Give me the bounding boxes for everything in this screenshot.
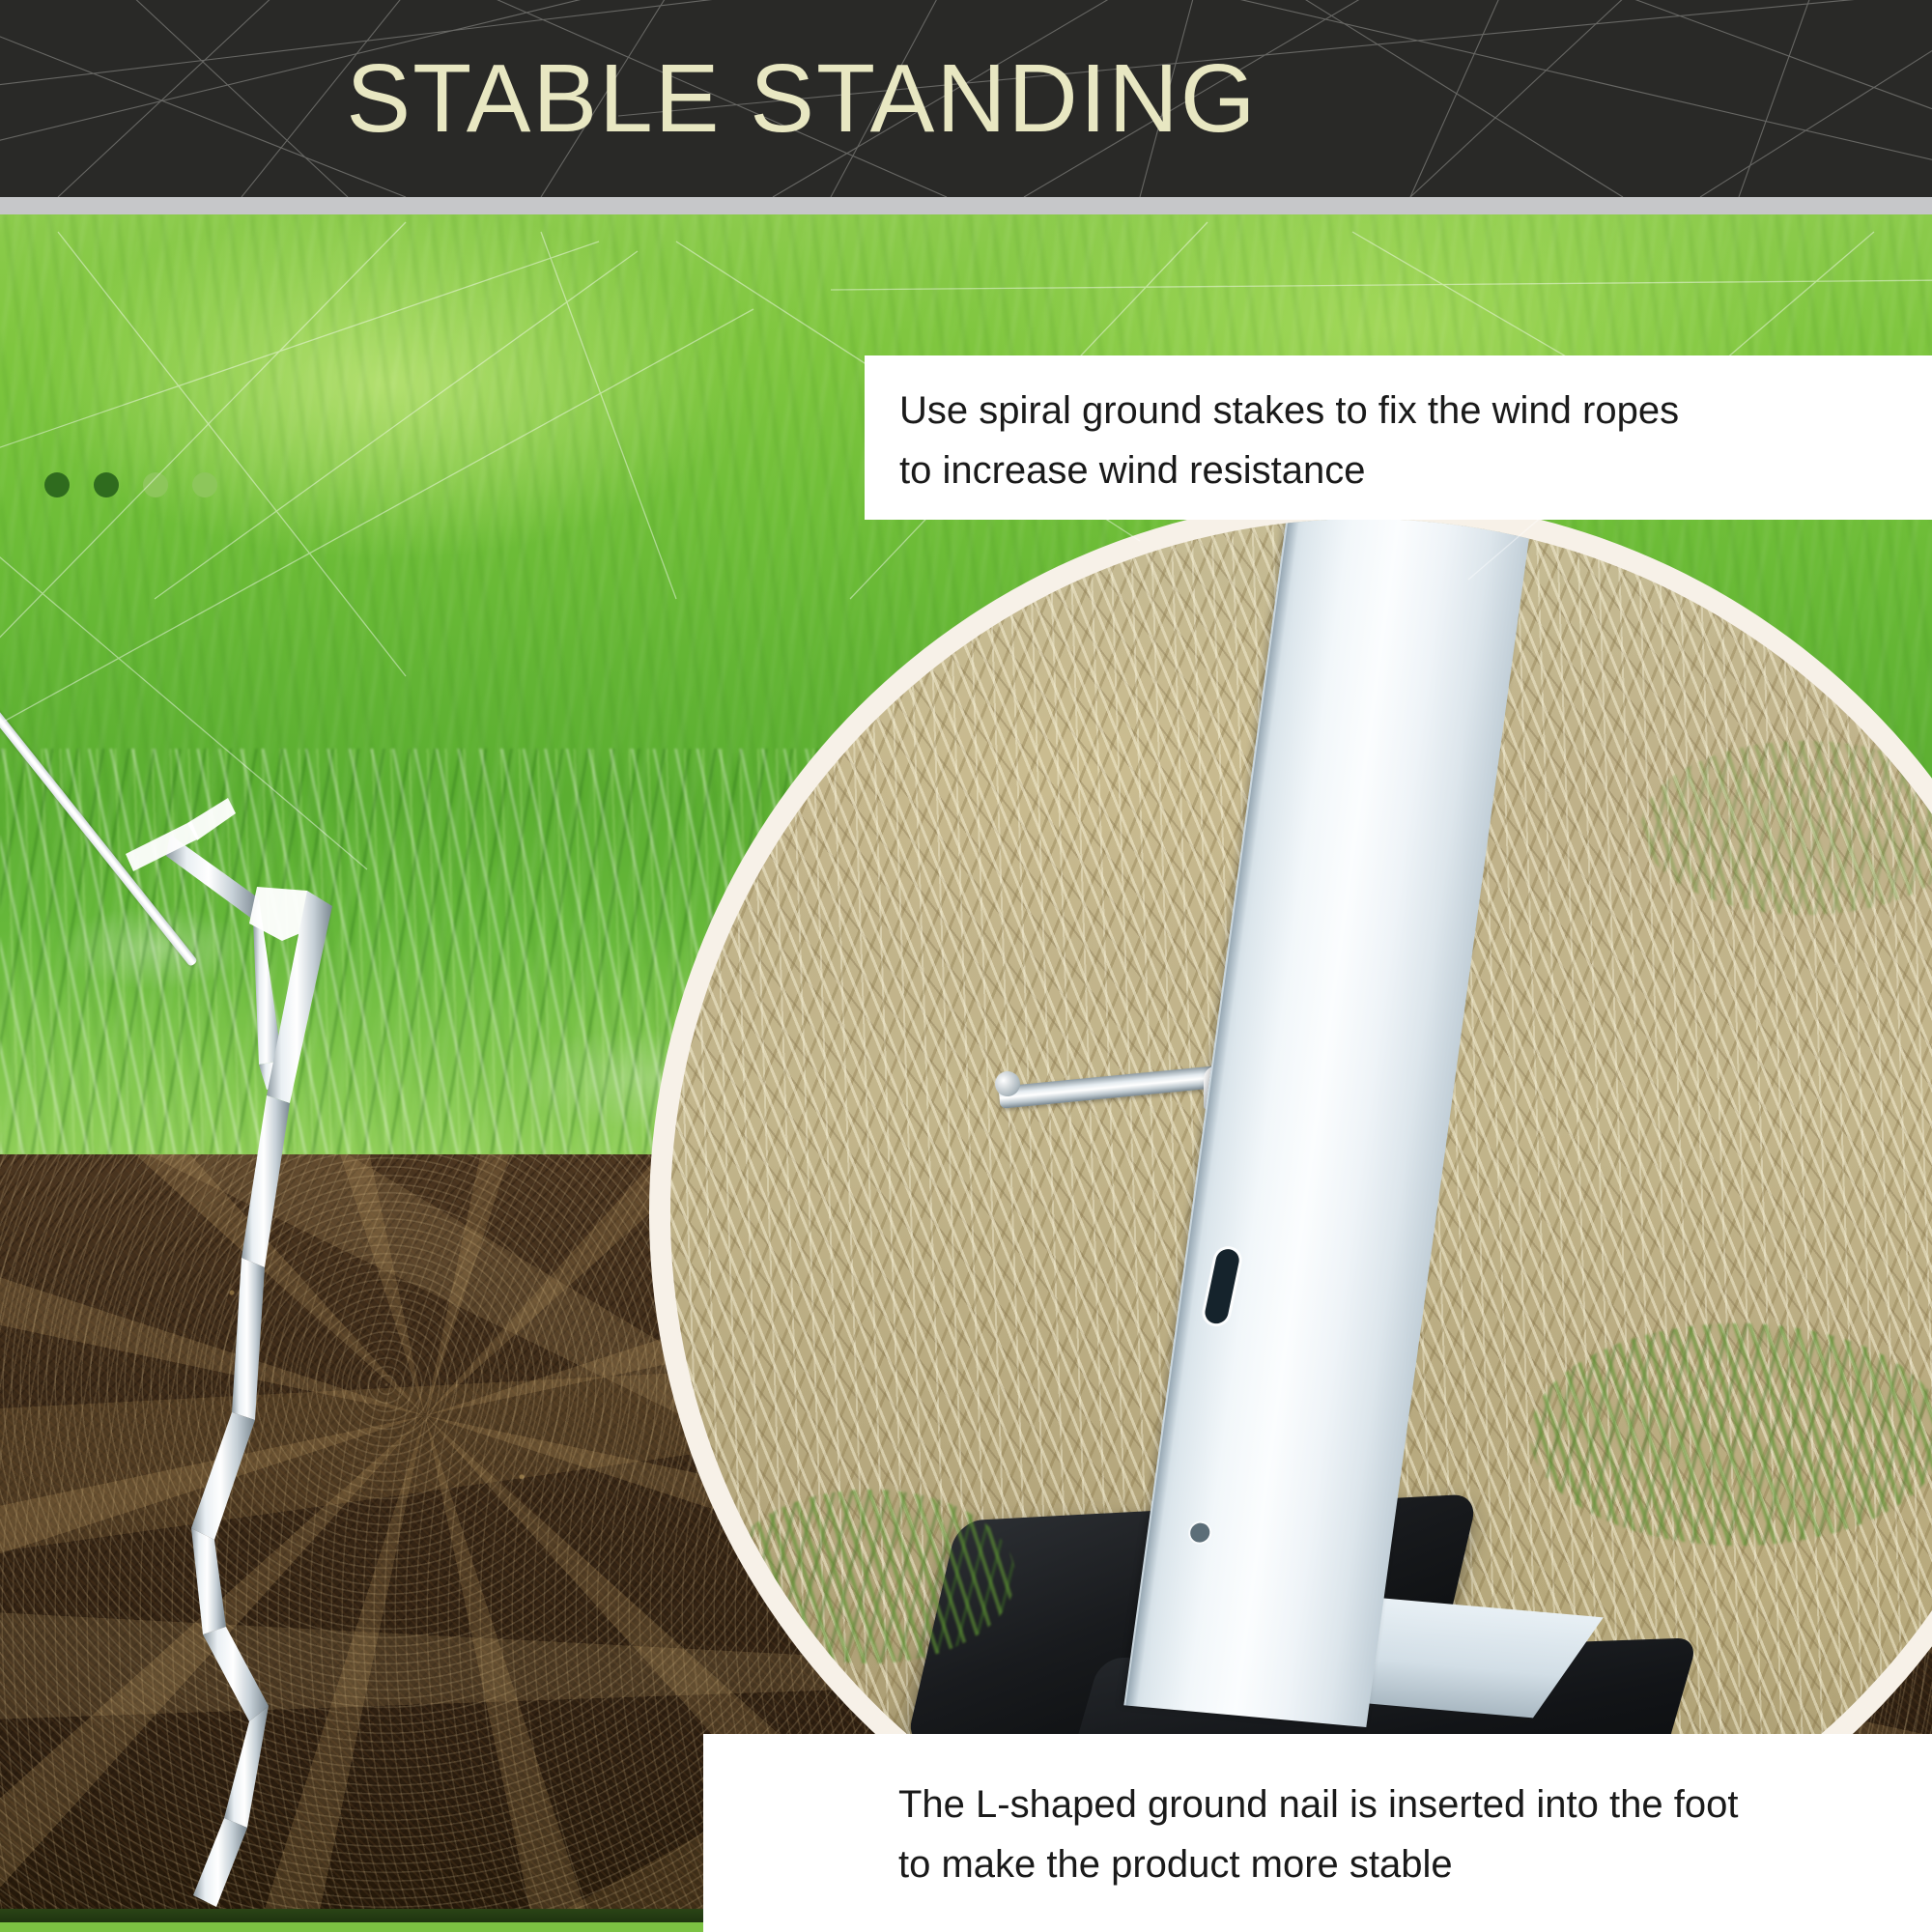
carousel-dots[interactable] [44, 472, 217, 497]
green-grass-patch-left [725, 1490, 1015, 1663]
header-banner: STABLE STANDING [0, 0, 1932, 197]
circular-inset-container [649, 497, 1932, 1927]
callout-1-line-2: to increase wind resistance [899, 440, 1932, 500]
product-feature-banner: STABLE STANDING [0, 0, 1932, 1932]
callout-2-line-2: to make the product more stable [898, 1834, 1932, 1894]
header-divider [0, 197, 1932, 214]
pole-screw-slot [1203, 1247, 1241, 1325]
carousel-dot-1[interactable] [44, 472, 70, 497]
callout-2-line-1: The L-shaped ground nail is inserted int… [898, 1775, 1932, 1834]
callout-1-line-1: Use spiral ground stakes to fix the wind… [899, 381, 1932, 440]
callout-box-ground-nail: The L-shaped ground nail is inserted int… [703, 1734, 1932, 1932]
pole-screw-hole [1189, 1522, 1211, 1544]
page-title: STABLE STANDING [0, 50, 1932, 147]
green-grass-patch-right [1530, 1323, 1932, 1546]
carousel-dot-2[interactable] [94, 472, 119, 497]
callout-box-spiral-stake: Use spiral ground stakes to fix the wind… [865, 355, 1932, 520]
carousel-dot-3[interactable] [143, 472, 168, 497]
carousel-dot-4[interactable] [192, 472, 217, 497]
l-nail-detail-photo [670, 519, 1932, 1906]
